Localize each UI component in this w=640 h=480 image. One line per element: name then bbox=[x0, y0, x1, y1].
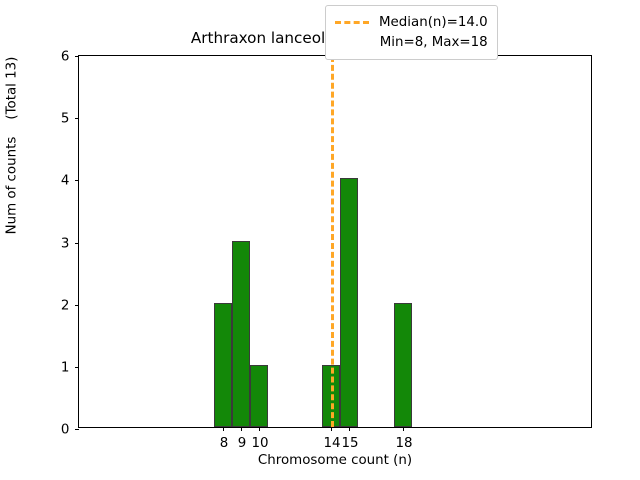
y-axis-tick: 1 bbox=[75, 367, 79, 368]
x-axis-tick: 8 bbox=[223, 427, 224, 431]
median-line bbox=[331, 56, 334, 427]
x-axis-tick: 15 bbox=[349, 427, 350, 431]
x-axis-tick-label: 15 bbox=[341, 436, 358, 451]
y-axis-tick-label: 5 bbox=[61, 112, 70, 127]
x-axis-label: Chromosome count (n) bbox=[78, 453, 592, 468]
legend: Median(n)=14.0 Min=8, Max=18 bbox=[325, 5, 498, 60]
x-axis-tick-label: 18 bbox=[395, 436, 412, 451]
y-axis-tick: 5 bbox=[75, 118, 79, 119]
y-axis-label: Num of counts (Total 13) bbox=[5, 0, 20, 306]
legend-label-median: Median(n)=14.0 bbox=[379, 15, 488, 30]
y-axis-tick: 2 bbox=[75, 305, 79, 306]
x-axis-tick-label: 8 bbox=[220, 436, 229, 451]
x-axis-tick-label: 10 bbox=[251, 436, 268, 451]
y-axis-tick: 4 bbox=[75, 180, 79, 181]
y-axis-label-secondary: (Total 13) bbox=[5, 57, 20, 120]
dashed-line-icon bbox=[335, 21, 369, 24]
y-axis-tick-label: 4 bbox=[61, 174, 70, 189]
legend-entry-range: Min=8, Max=18 bbox=[335, 32, 488, 52]
y-axis-label-spacer bbox=[5, 124, 20, 133]
x-axis-tick: 14 bbox=[331, 427, 332, 431]
y-axis-tick-label: 1 bbox=[61, 360, 70, 375]
y-axis-tick: 3 bbox=[75, 243, 79, 244]
y-axis-tick: 6 bbox=[75, 56, 79, 57]
y-axis-label-primary: Num of counts bbox=[5, 137, 20, 235]
y-axis-tick: 0 bbox=[75, 429, 79, 430]
y-axis-tick-label: 6 bbox=[61, 50, 70, 65]
y-axis-tick-label: 2 bbox=[61, 298, 70, 313]
x-axis-tick: 10 bbox=[259, 427, 260, 431]
x-axis-tick-label: 14 bbox=[323, 436, 340, 451]
y-axis-tick-label: 3 bbox=[61, 236, 70, 251]
x-axis-tick: 18 bbox=[403, 427, 404, 431]
x-axis-tick-label: 9 bbox=[238, 436, 247, 451]
legend-label-range: Min=8, Max=18 bbox=[380, 35, 488, 50]
median-line-layer bbox=[79, 56, 591, 427]
chart-figure: Arthraxon lanceolatus (Roxb.) Hochst. 01… bbox=[0, 0, 640, 480]
plot-area: 0123456 8910141518 bbox=[78, 55, 592, 428]
y-axis-tick-label: 0 bbox=[61, 423, 70, 438]
legend-entry-median: Median(n)=14.0 bbox=[335, 12, 488, 32]
x-axis-tick: 9 bbox=[241, 427, 242, 431]
